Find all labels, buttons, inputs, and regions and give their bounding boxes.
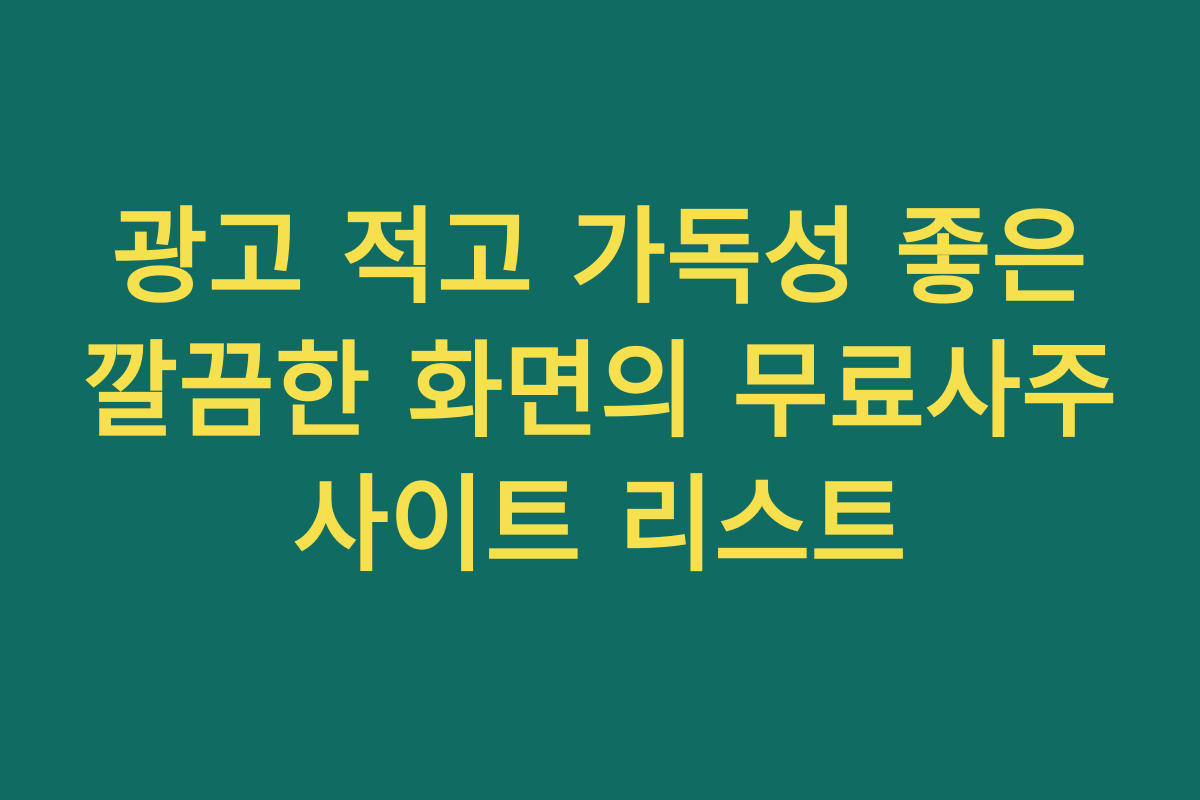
title-line-3: 사이트 리스트	[40, 458, 1160, 592]
thumbnail-card: 광고 적고 가독성 좋은 깔끔한 화면의 무료사주 사이트 리스트	[0, 0, 1200, 800]
title-line-1: 광고 적고 가독성 좋은	[40, 190, 1160, 324]
title-line-2: 깔끔한 화면의 무료사주	[40, 324, 1160, 458]
page-title: 광고 적고 가독성 좋은 깔끔한 화면의 무료사주 사이트 리스트	[40, 190, 1160, 592]
